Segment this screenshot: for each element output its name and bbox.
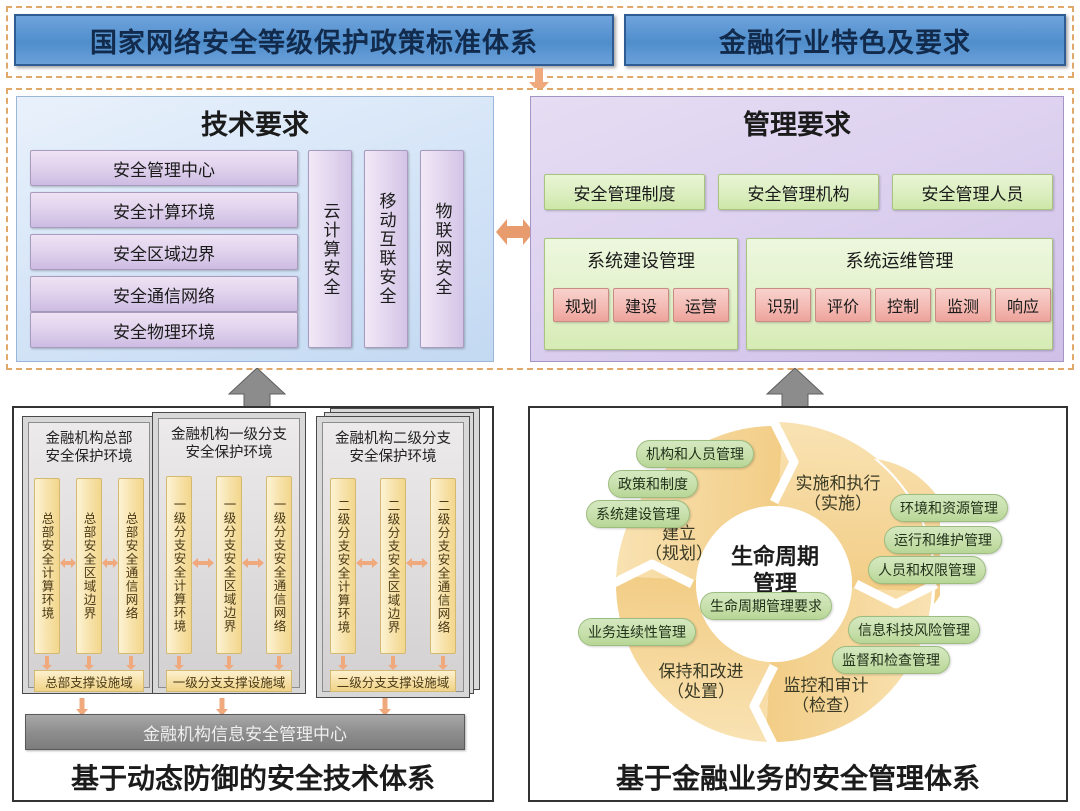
mgmt-phase-operate[interactable]: 运营	[673, 288, 729, 322]
card-branch-level2-col-network[interactable]: 二级分支安全通信网络	[430, 478, 456, 654]
card-branch-level2-col-boundary-label: 二级分支安全区域边界	[384, 499, 403, 634]
lifecycle-quadrant-plan: 建立 （规划）	[636, 524, 722, 565]
hq-v-arrow-3-icon	[125, 656, 137, 670]
lifecycle-quadrant-act: 保持和改进 （处置）	[646, 662, 756, 703]
card-headquarters-col-compute[interactable]: 总部安全计算环境	[34, 478, 60, 654]
card-branch-level1-col-network[interactable]: 一级分支安全通信网络	[266, 476, 292, 654]
card-headquarters-support[interactable]: 总部支撑设施域	[34, 670, 144, 692]
card-headquarters-col-network-label: 总部安全通信网络	[122, 512, 141, 620]
pill-sys-construction[interactable]: 系统建设管理	[586, 500, 690, 528]
card-headquarters-col-network[interactable]: 总部安全通信网络	[118, 478, 144, 654]
left-panel-caption: 基于动态防御的安全技术体系	[12, 756, 494, 798]
card-headquarters-col-boundary-label: 总部安全区域边界	[80, 512, 99, 620]
mgmt-ops-control[interactable]: 控制	[875, 288, 931, 322]
mgmt-phase-build[interactable]: 建设	[613, 288, 669, 322]
hq-v-arrow-2-icon	[83, 656, 95, 670]
b1-v-arrow-3-icon	[273, 656, 285, 670]
b1-h-arrow-2-icon	[242, 556, 264, 570]
mgmt-item-security-personnel[interactable]: 安全管理人员	[892, 174, 1053, 210]
tech-ext-iot-security-label: 物联网安全	[430, 202, 455, 297]
card-branch-level1-col-boundary[interactable]: 一级分支安全区域边界	[216, 476, 242, 654]
right-panel-caption: 基于金融业务的安全管理体系	[528, 756, 1068, 798]
tech-layer-security-mgmt-center[interactable]: 安全管理中心	[30, 150, 298, 186]
mgmt-item-security-org[interactable]: 安全管理机构	[718, 174, 879, 210]
card-headquarters-title: 金融机构总部 安全保护环境	[28, 430, 150, 470]
tech-layer-area-boundary[interactable]: 安全区域边界	[30, 234, 298, 270]
b2-h-arrow-2-icon	[406, 556, 428, 570]
tech-ext-mobile-security[interactable]: 移动互联安全	[364, 150, 408, 348]
tech-ext-iot-security[interactable]: 物联网安全	[420, 150, 464, 348]
tech-mgmt-link-arrow-icon	[496, 212, 534, 252]
pill-org-personnel[interactable]: 机构和人员管理	[636, 440, 754, 468]
pill-supervision-audit[interactable]: 监督和检查管理	[832, 646, 950, 674]
b1-v-arrow-1-icon	[173, 656, 185, 670]
mgmt-group-system-construction-title: 系统建设管理	[544, 244, 738, 276]
b2-h-arrow-1-icon	[356, 556, 378, 570]
lifecycle-quadrant-check: 监控和审计 （检查）	[768, 676, 884, 717]
pill-lifecycle-req[interactable]: 生命周期管理要求	[700, 592, 832, 620]
mgmt-item-security-policy[interactable]: 安全管理制度	[544, 174, 705, 210]
mgmt-ops-identify[interactable]: 识别	[755, 288, 811, 322]
card-branch-level2-col-boundary[interactable]: 二级分支安全区域边界	[380, 478, 406, 654]
pill-policy-system[interactable]: 政策和制度	[608, 470, 698, 498]
mgmt-ops-monitor[interactable]: 监测	[935, 288, 991, 322]
mgmt-ops-evaluate[interactable]: 评价	[815, 288, 871, 322]
mgmt-group-system-operations-title: 系统运维管理	[746, 244, 1053, 276]
card-branch-level2-support[interactable]: 二级分支支撑设施域	[330, 670, 456, 692]
pill-ops-maintenance[interactable]: 运行和维护管理	[884, 526, 1002, 554]
tech-layer-comm-network[interactable]: 安全通信网络	[30, 276, 298, 312]
b2-v-arrow-3-icon	[437, 656, 449, 670]
lifecycle-hub-title: 生命周期 管理	[700, 540, 850, 600]
tech-ext-mobile-security-label: 移动互联安全	[374, 192, 399, 306]
banner-national-policy[interactable]: 国家网络安全等级保护政策标准体系	[14, 14, 614, 66]
hq-h-arrow-2-icon	[102, 556, 118, 570]
card-headquarters-col-boundary[interactable]: 总部安全区域边界	[76, 478, 102, 654]
banner-finance-features[interactable]: 金融行业特色及要求	[624, 14, 1066, 66]
card-headquarters-col-compute-label: 总部安全计算环境	[38, 512, 57, 620]
hq-v-arrow-1-icon	[41, 656, 53, 670]
pill-business-continuity[interactable]: 业务连续性管理	[578, 618, 696, 646]
tech-panel-title: 技术要求	[16, 102, 494, 142]
tech-ext-cloud-security[interactable]: 云计算安全	[308, 150, 352, 348]
card-branch-level1-support[interactable]: 一级分支支撑设施域	[166, 670, 292, 692]
card-branch-level1-col-compute-label: 一级分支安全计算环境	[170, 498, 189, 633]
right-panel-up-arrow-icon	[766, 368, 824, 408]
b1-h-arrow-1-icon	[192, 556, 214, 570]
card-branch-level2-col-compute[interactable]: 二级分支安全计算环境	[330, 478, 356, 654]
tech-layer-physical-env[interactable]: 安全物理环境	[30, 312, 298, 348]
tech-ext-cloud-security-label: 云计算安全	[318, 202, 343, 297]
pill-it-risk[interactable]: 信息科技风险管理	[848, 616, 980, 644]
card-branch-level1-col-boundary-label: 一级分支安全区域边界	[220, 498, 239, 633]
card-branch-level2-title: 金融机构二级分支 安全保护环境	[322, 430, 464, 470]
lifecycle-quadrant-do: 实施和执行 （实施）	[780, 474, 896, 515]
b2-v-arrow-2-icon	[387, 656, 399, 670]
hq-h-arrow-1-icon	[60, 556, 76, 570]
pill-personnel-auth[interactable]: 人员和权限管理	[868, 556, 986, 584]
card-branch-level1-col-network-label: 一级分支安全通信网络	[270, 498, 289, 633]
b2-v-arrow-1-icon	[337, 656, 349, 670]
financial-info-security-center-bar[interactable]: 金融机构信息安全管理中心	[25, 714, 465, 750]
mgmt-phase-plan[interactable]: 规划	[553, 288, 609, 322]
left-panel-up-arrow-icon	[228, 368, 286, 408]
mgmt-ops-respond[interactable]: 响应	[995, 288, 1051, 322]
pill-env-resource[interactable]: 环境和资源管理	[890, 494, 1008, 522]
mgmt-panel-title: 管理要求	[530, 102, 1064, 142]
card-branch-level1-title: 金融机构一级分支 安全保护环境	[158, 426, 300, 466]
card-branch-level2-col-compute-label: 二级分支安全计算环境	[334, 499, 353, 634]
b1-v-arrow-2-icon	[223, 656, 235, 670]
card-branch-level1-col-compute[interactable]: 一级分支安全计算环境	[166, 476, 192, 654]
tech-layer-compute-env[interactable]: 安全计算环境	[30, 192, 298, 228]
card-branch-level2-col-network-label: 二级分支安全通信网络	[434, 499, 453, 634]
